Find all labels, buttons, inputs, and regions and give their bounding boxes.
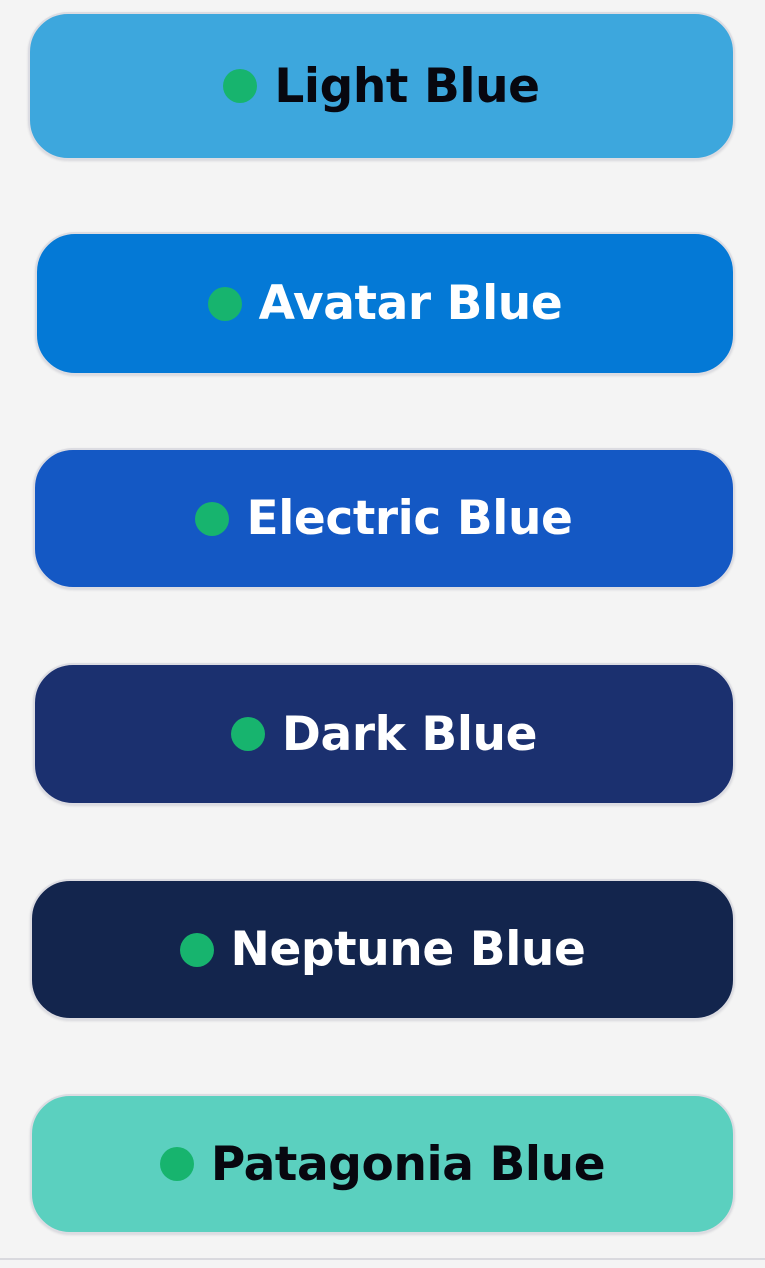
color-button-patagonia-blue[interactable]: Patagonia Blue (30, 1094, 735, 1234)
color-button-electric-blue[interactable]: Electric Blue (33, 448, 735, 589)
color-button-avatar-blue[interactable]: Avatar Blue (35, 232, 735, 375)
status-dot-icon (223, 69, 257, 103)
status-dot-icon (160, 1147, 194, 1181)
color-button-label: Electric Blue (246, 495, 572, 542)
status-dot-icon (180, 933, 214, 967)
color-button-label: Patagonia Blue (211, 1141, 605, 1188)
color-button-label: Dark Blue (282, 711, 537, 758)
color-swatch-list: Light BlueAvatar BlueElectric BlueDark B… (0, 0, 765, 1268)
color-button-dark-blue[interactable]: Dark Blue (33, 663, 735, 805)
status-dot-icon (208, 287, 242, 321)
color-button-label: Neptune Blue (231, 926, 586, 973)
color-button-neptune-blue[interactable]: Neptune Blue (30, 879, 735, 1020)
status-dot-icon (195, 502, 229, 536)
color-button-label: Light Blue (274, 63, 539, 110)
color-button-label: Avatar Blue (259, 280, 563, 327)
color-button-light-blue[interactable]: Light Blue (28, 12, 735, 160)
status-dot-icon (231, 717, 265, 751)
bottom-divider (0, 1258, 765, 1260)
